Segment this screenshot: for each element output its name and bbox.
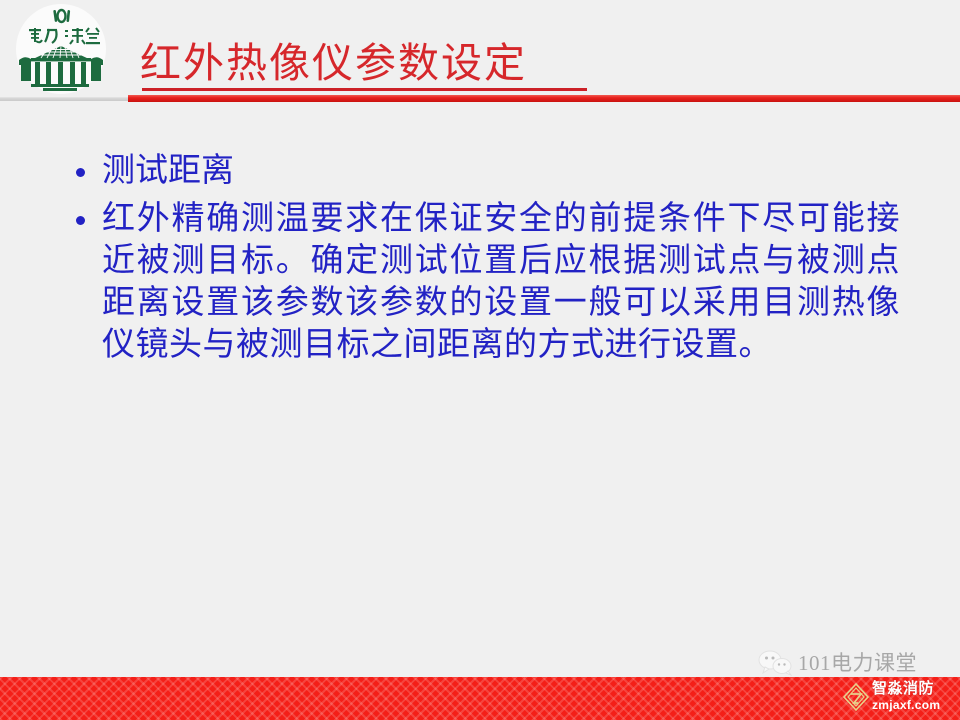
slide-header: 红外热像仪参数设定 [0,0,960,100]
brand-logo: 智淼消防 zmjaxf.com [843,682,940,711]
bullet-text: 测试距离 [102,153,234,189]
brand-text-block: 智淼消防 zmjaxf.com [872,682,940,711]
slide-body: 测试距离 红外精确测温要求在保证安全的前提条件下尽可能接近被测目标。确定测试位置… [0,150,960,372]
page-title: 红外热像仪参数设定 [140,40,527,86]
footer-banner [0,677,960,720]
slide-root: 红外热像仪参数设定 测试距离 红外精确测温要求在保证安全的前提条件下尽可能接近被… [0,0,960,720]
brand-url: zmjaxf.com [872,699,940,711]
wechat-watermark-label: 101电力课堂 [798,651,917,675]
bullet-list: 测试距离 红外精确测温要求在保证安全的前提条件下尽可能接近被测目标。确定测试位置… [60,150,900,366]
list-item: 测试距离 [60,150,900,192]
bullet-text: 红外精确测温要求在保证安全的前提条件下尽可能接近被测目标。确定测试位置后应根据测… [102,201,900,363]
header-divider-red [128,95,960,102]
list-item: 红外精确测温要求在保证安全的前提条件下尽可能接近被测目标。确定测试位置后应根据测… [60,198,900,366]
zhimiao-diamond-logo-icon [843,683,869,711]
school-emblem-icon [13,2,109,96]
wechat-icon [758,650,792,676]
header-divider-gray [0,96,128,101]
title-underline [142,88,587,91]
wechat-watermark: 101电力课堂 [758,650,917,676]
brand-name: 智淼消防 [872,682,940,697]
